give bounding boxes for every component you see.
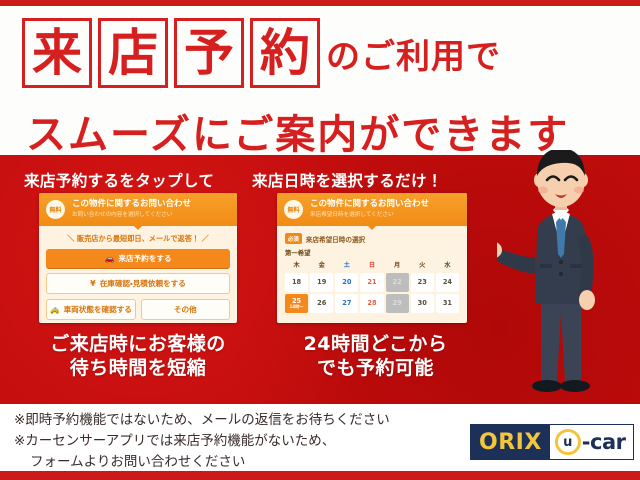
visit-reservation-button[interactable]: 🚗 来店予約をする [46,249,230,268]
day-number: 22 [393,279,402,286]
stock-quote-label: 在庫確認・見積依頼をする [100,278,186,289]
day-number: 27 [342,300,351,307]
calendar-day-cell[interactable]: 30 [411,294,434,313]
calendar-day-cell[interactable]: 18 [285,273,308,292]
day-number: 24 [443,279,452,286]
day-number: 19 [317,279,326,286]
calendar-day-cell[interactable]: 26 [310,294,333,313]
calendar-day-cell[interactable]: 28 [360,294,383,313]
calendar-day-cell-selected[interactable]: 25 14時〜 [285,294,308,313]
headline-kanji-box-3: 予 [174,18,244,88]
vehicle-condition-button[interactable]: 🚕 車両状態を確認する [46,299,136,320]
calendar-day-cell[interactable]: 27 [335,294,358,313]
right-benefit-caption: 24時間どこから でも予約可能 [268,333,483,381]
calendar-body: 必須 来店希望日時の選択 第一希望 木 金 土 日 月 火 水 18 19 20… [277,226,467,319]
other-label: その他 [174,304,197,315]
logo-orix-text: ORIX [471,425,550,459]
calendar-card-header: 無料 この物件に関するお問い合わせ 来店希望日時を選択してください [277,193,467,226]
weekday-header: 日 [360,260,383,271]
calendar-day-cell-disabled: 29 [386,294,409,313]
weekday-header: 火 [411,260,434,271]
left-benefit-caption: ご来店時にお客様の 待ち時間を短縮 [14,333,262,381]
free-badge: 無料 [284,200,303,219]
left-caption-line2: 待ち時間を短縮 [14,357,262,381]
left-caption-line1: ご来店時にお客様の [14,333,262,357]
note-line-2: ※カーセンサーアプリでは来店予約機能がないため、 [14,431,444,452]
headline-second-line: スムーズにご案内ができます [26,102,569,160]
salesman-illustration [497,150,627,404]
car-icon: 🚗 [104,255,114,263]
logo-ucar-block: u -car [550,425,633,459]
free-badge: 無料 [46,200,65,219]
logo-car-text: -car [582,430,626,454]
inquiry-form-mockup: 無料 この物件に関するお問い合わせ お問い合わせの内容を選択してください ＼ 販… [39,193,237,323]
right-panel-subheading: 来店日時を選択するだけ！ [252,169,443,191]
day-time-sub: 14時〜 [289,305,303,309]
card-header-notch [367,225,377,230]
calendar-grid: 木 金 土 日 月 火 水 18 19 20 21 22 23 24 25 [285,260,459,313]
note-line-1: ※即時予約機能ではないため、メールの返信をお待ちください [14,410,444,431]
calendar-card-title: この物件に関するお問い合わせ [310,200,429,210]
day-number: 29 [393,300,402,307]
promo-banner: 来 店 予 約 のご利用で スムーズにご案内ができます 来店予約するをタップして… [0,0,640,480]
footer-notes: ※即時予約機能ではないため、メールの返信をお待ちください ※カーセンサーアプリで… [14,410,444,473]
banner-header: 来 店 予 約 のご利用で スムーズにご案内ができます [0,6,640,155]
calendar-day-cell[interactable]: 31 [436,294,459,313]
day-number: 30 [418,300,427,307]
calendar-mockup: 無料 この物件に関するお問い合わせ 来店希望日時を選択してください 必須 来店希… [277,193,467,323]
calendar-day-cell[interactable]: 21 [360,273,383,292]
calendar-day-cell-disabled: 22 [386,273,409,292]
headline-kanji-box-2: 店 [98,18,168,88]
day-number: 31 [443,300,452,307]
other-button[interactable]: その他 [141,299,231,320]
headline-kanji-box-4: 約 [250,18,320,88]
left-panel-subheading: 来店予約するをタップして [24,169,214,191]
inquiry-button-group: 🚗 来店予約をする ¥ 在庫確認・見積依頼をする 🚕 車両状態を確認する その他 [39,249,237,323]
orix-ucar-logo: ORIX u -car [470,424,634,460]
note-line-3: フォームよりお問い合わせください [14,452,444,473]
yen-icon: ¥ [90,280,96,288]
day-number: 23 [418,279,427,286]
headline-kanji-row: 来 店 予 約 のご利用で [22,18,501,88]
day-number: 21 [367,279,376,286]
weekday-header: 月 [386,260,409,271]
headline-tail-text: のご利用で [326,29,501,78]
weekday-header: 木 [285,260,308,271]
inquiry-card-title: この物件に関するお問い合わせ [72,200,191,210]
car-outline-icon: 🚕 [50,306,60,314]
calendar-day-cell[interactable]: 19 [310,273,333,292]
day-number: 20 [342,279,351,286]
calendar-card-subtitle: 来店希望日時を選択してください [310,212,429,218]
required-tag: 必須 [285,233,302,244]
weekday-header: 土 [335,260,358,271]
visit-reservation-label: 来店予約をする [118,253,171,264]
day-number: 26 [317,300,326,307]
right-caption-line1: 24時間どこから [268,333,483,357]
calendar-day-cell[interactable]: 23 [411,273,434,292]
logo-u-circle: u [555,429,581,455]
inquiry-card-header: 無料 この物件に関するお問い合わせ お問い合わせの内容を選択してください [39,193,237,226]
day-number: 18 [292,279,301,286]
calendar-day-cell[interactable]: 24 [436,273,459,292]
bottom-accent-rule [0,471,640,480]
preference-label: 第一希望 [285,248,459,257]
secondary-button-row: 🚕 車両状態を確認する その他 [46,299,230,320]
vehicle-condition-label: 車両状態を確認する [64,304,132,315]
day-number: 28 [367,300,376,307]
calendar-tag-label: 来店希望日時の選択 [306,234,365,244]
right-caption-line2: でも予約可能 [268,357,483,381]
headline-kanji-box-1: 来 [22,18,92,88]
inquiry-card-subtitle: お問い合わせの内容を選択してください [72,212,191,218]
weekday-header: 金 [310,260,333,271]
weekday-header: 水 [436,260,459,271]
calendar-day-cell[interactable]: 20 [335,273,358,292]
stock-quote-button[interactable]: ¥ 在庫確認・見積依頼をする [46,273,230,294]
card-header-notch [133,225,143,230]
calendar-tag-row: 必須 来店希望日時の選択 [285,233,459,244]
